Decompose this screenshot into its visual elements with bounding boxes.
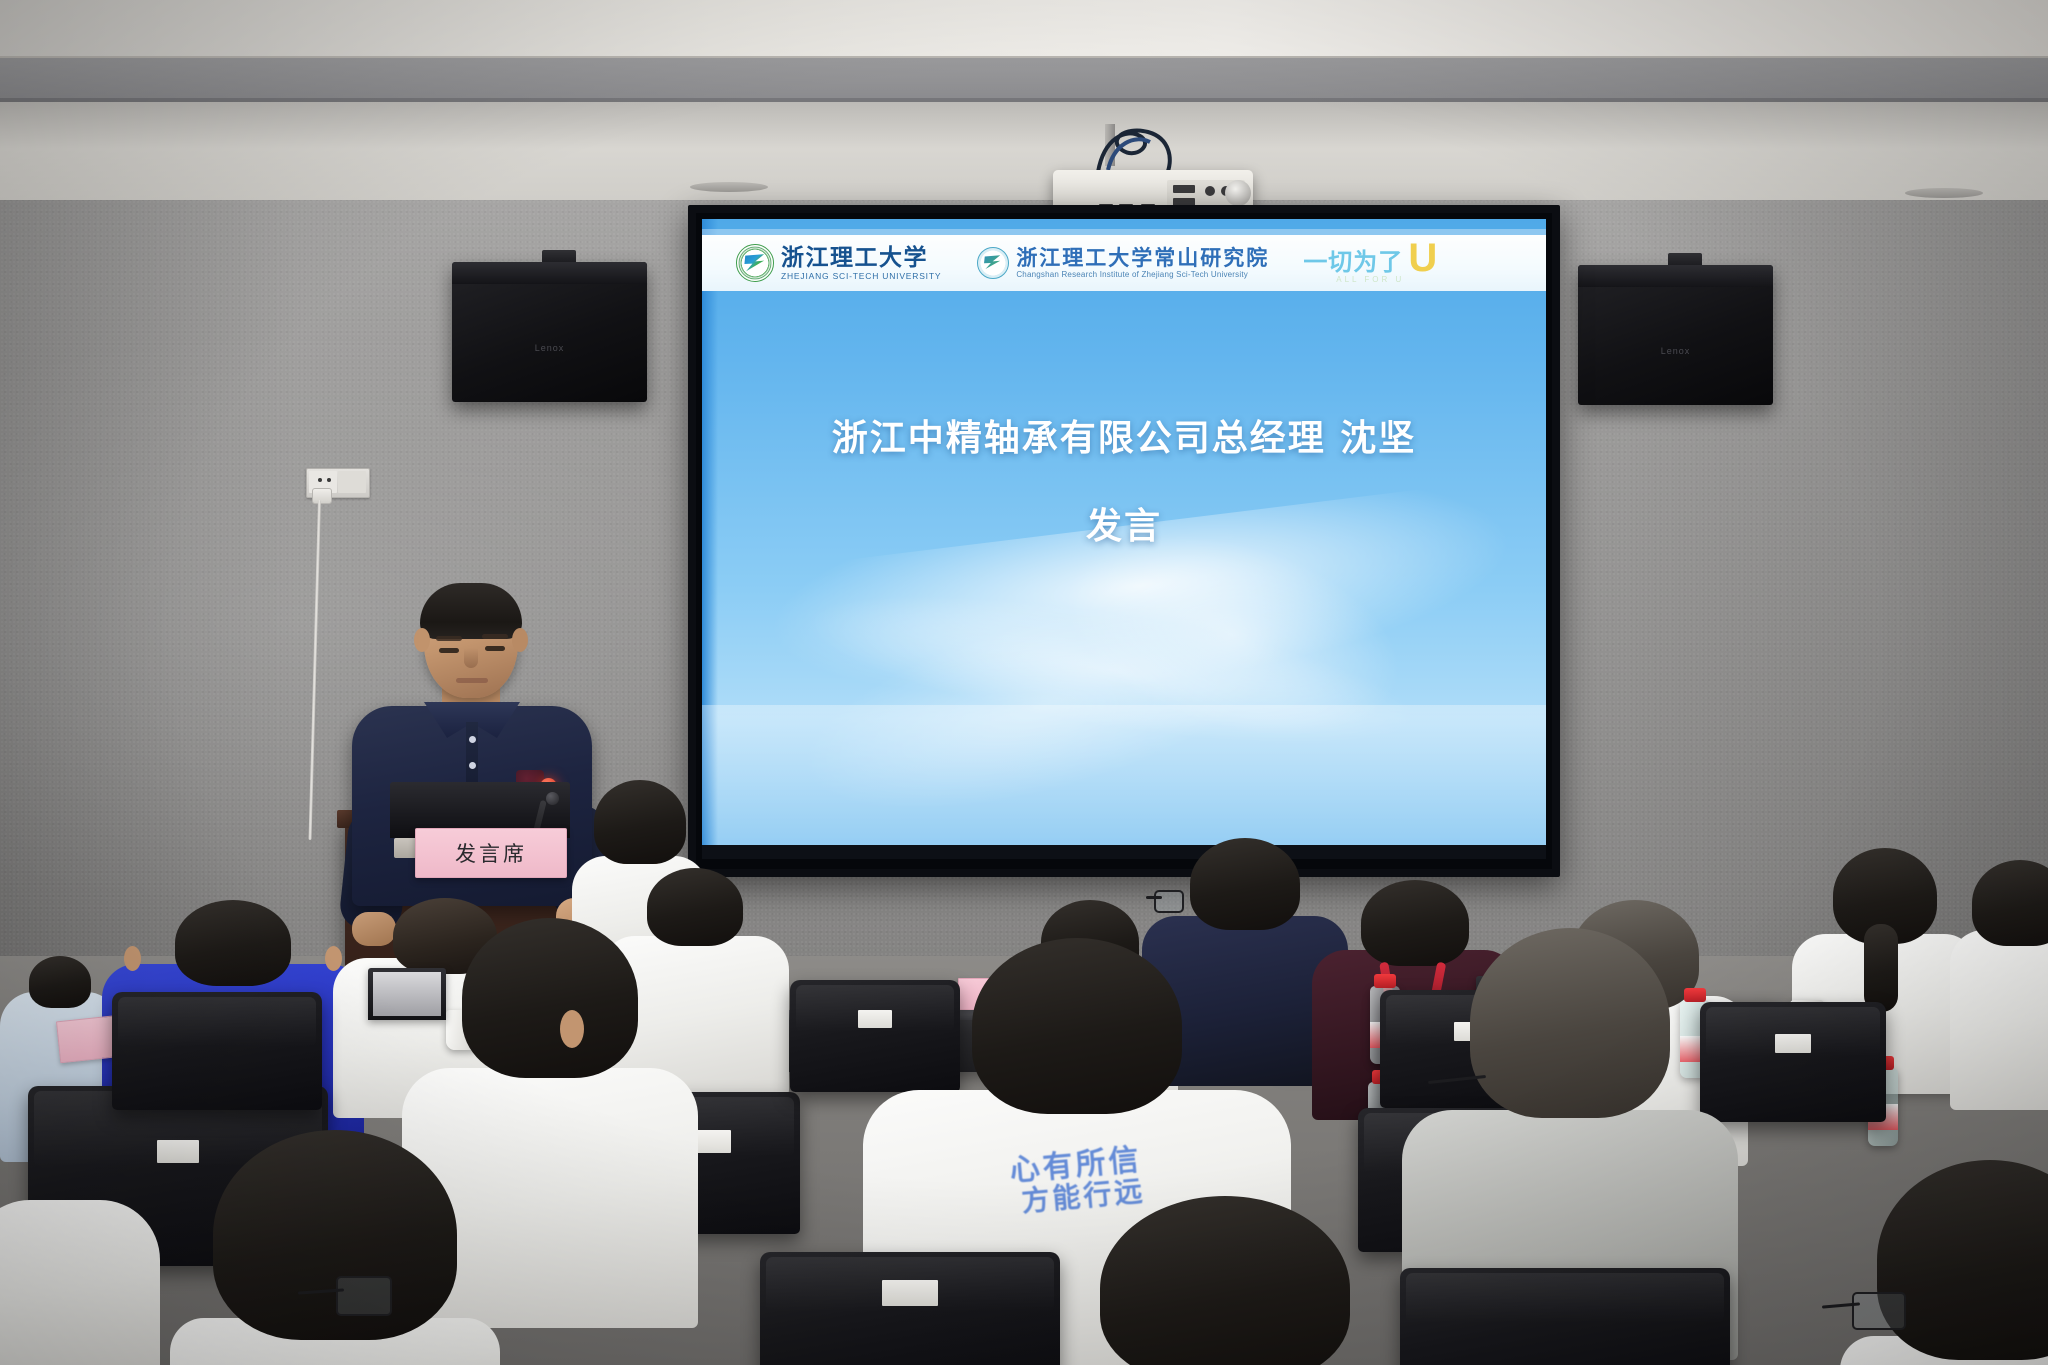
speaker-top (1578, 265, 1773, 287)
eyeglasses-temple (1146, 896, 1162, 899)
speaker-eye (439, 648, 459, 653)
ceiling-lower-panel (0, 102, 2048, 206)
logo-changshan-text: 浙江理工大学常山研究院 Changshan Research Institute… (1016, 247, 1269, 279)
eyeglasses-icon (336, 1276, 392, 1316)
speaker-brow (436, 636, 462, 641)
slide-swirl-graphic (755, 500, 1546, 859)
podium-sign-label: 发言席 (455, 838, 527, 868)
person-hair (1100, 1196, 1350, 1365)
person-ear (124, 946, 141, 971)
chair-label-tag (882, 1280, 938, 1306)
speaker-brand-label: Lenox (1661, 346, 1691, 356)
all-for-u-letter: U (1408, 242, 1437, 274)
person-hair (1877, 1160, 2048, 1360)
speaker-polo-button (469, 736, 476, 743)
person-hair (972, 938, 1182, 1114)
person-hair (1190, 838, 1300, 930)
slide-bottom-bar (702, 845, 1546, 859)
eyeglasses-icon (1852, 1292, 1906, 1330)
podium-sign: 发言席 (415, 828, 567, 878)
person-hair (1470, 928, 1670, 1118)
speaker-nose (464, 648, 478, 668)
ceiling-soffit (0, 58, 2048, 100)
person-hair (29, 956, 91, 1008)
zhejiang-sci-tech-university-emblem-icon (736, 244, 774, 282)
changshan-research-institute-emblem-icon (977, 247, 1009, 279)
logo-zstu-cn: 浙江理工大学 (781, 246, 941, 269)
logo-all-for-u: 一切为了 U ALL FOR U (1303, 242, 1437, 284)
speaker-polo-button (469, 762, 476, 769)
person-hair (175, 900, 291, 986)
all-for-u-row: 一切为了 U (1303, 242, 1437, 274)
slide-title: 浙江中精轴承有限公司总经理 沈坚 发言 (702, 409, 1546, 549)
list-item (1080, 1196, 1370, 1365)
person-ear (560, 1010, 584, 1048)
podium-microphone-head (546, 792, 559, 805)
ceiling-vent-left (690, 182, 768, 192)
logo-changshan: 浙江理工大学常山研究院 Changshan Research Institute… (977, 247, 1269, 279)
outlet-pin (318, 478, 322, 482)
bottle-cap (1374, 974, 1396, 988)
speaker-hair (420, 583, 522, 639)
wall-speaker-right: Lenox (1578, 265, 1773, 405)
projection-screen: 浙江理工大学 ZHEJIANG SCI-TECH UNIVERSITY 浙江理工… (688, 205, 1560, 877)
person-torso (1950, 930, 2048, 1110)
logo-zstu-text: 浙江理工大学 ZHEJIANG SCI-TECH UNIVERSITY (781, 246, 941, 281)
projector-port (1173, 185, 1195, 193)
presentation-slide: 浙江理工大学 ZHEJIANG SCI-TECH UNIVERSITY 浙江理工… (702, 219, 1546, 859)
wall-shadow-left (0, 200, 300, 960)
speaker-polo-placket (466, 722, 478, 788)
conference-room-photo: Lenox Lenox (0, 0, 2048, 1365)
speaker-ear-right (512, 628, 528, 652)
list-item (1840, 1160, 2048, 1365)
person-hair (462, 918, 638, 1078)
all-for-u-cn: 一切为了 (1303, 250, 1403, 274)
chair[interactable] (1400, 1268, 1730, 1365)
speaker-ear-left (414, 628, 430, 652)
outlet-switch[interactable] (338, 471, 366, 493)
logo-zstu-en: ZHEJIANG SCI-TECH UNIVERSITY (781, 272, 941, 281)
slide-title-line2: 发言 (702, 497, 1546, 549)
speaker-eye (485, 646, 505, 651)
person-hair (213, 1130, 457, 1340)
wall-speaker-left: Lenox (452, 262, 647, 402)
eyeglasses-icon (1154, 890, 1184, 913)
screen-inner: 浙江理工大学 ZHEJIANG SCI-TECH UNIVERSITY 浙江理工… (696, 213, 1552, 869)
speaker-brow (482, 634, 508, 639)
chair[interactable] (112, 992, 322, 1110)
slide-title-line1: 浙江中精轴承有限公司总经理 沈坚 (702, 409, 1546, 461)
person-ponytail (1864, 924, 1898, 1012)
logo-zstu: 浙江理工大学 ZHEJIANG SCI-TECH UNIVERSITY (736, 244, 941, 282)
slide-swirl-graphic (702, 705, 1546, 859)
logo-changshan-cn: 浙江理工大学常山研究院 (1016, 247, 1269, 268)
person-hair (594, 780, 686, 864)
list-item (170, 1130, 500, 1365)
speaker-top (452, 262, 647, 284)
ceiling-vent-right (1905, 188, 1983, 198)
slide-swirl-graphic (702, 526, 1366, 859)
projector-lens (1225, 180, 1251, 206)
speaker-brand-label: Lenox (535, 343, 565, 353)
person-torso (0, 1200, 160, 1365)
outlet-pin (327, 478, 331, 482)
person-hair (1972, 860, 2048, 946)
logo-changshan-en: Changshan Research Institute of Zhejiang… (1016, 271, 1269, 279)
chair-label-tag (1775, 1034, 1811, 1053)
ceiling (0, 0, 2048, 58)
power-plug (312, 488, 332, 504)
speaker-mouth (456, 678, 488, 683)
chair[interactable] (760, 1252, 1060, 1365)
list-item (1960, 860, 2048, 1090)
list-item (0, 1200, 160, 1365)
slide-header-bar: 浙江理工大学 ZHEJIANG SCI-TECH UNIVERSITY 浙江理工… (702, 235, 1546, 291)
projector-port (1205, 186, 1215, 196)
